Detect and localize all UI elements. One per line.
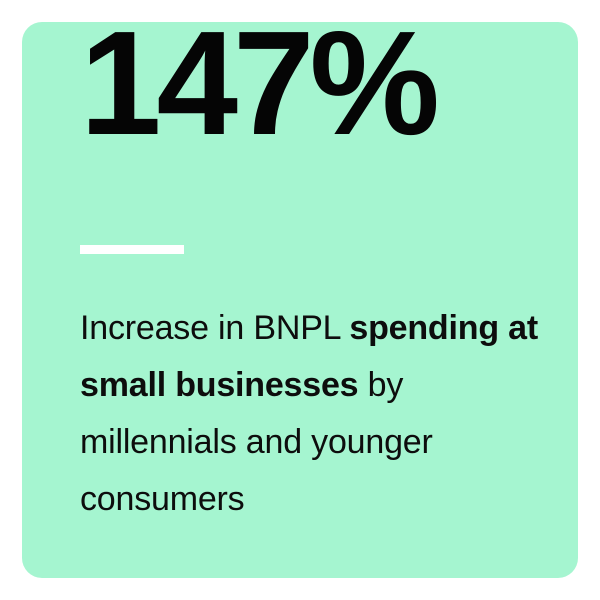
stat-card-canvas: 147% Increase in BNPL spending at small … [0,0,600,600]
stat-card: 147% Increase in BNPL spending at small … [22,22,578,578]
stat-description: Increase in BNPL spending at small busin… [80,300,566,528]
description-segment-leading: Increase in BNPL [80,309,349,347]
divider-rule [80,245,184,254]
stat-value: 147% [80,10,435,158]
